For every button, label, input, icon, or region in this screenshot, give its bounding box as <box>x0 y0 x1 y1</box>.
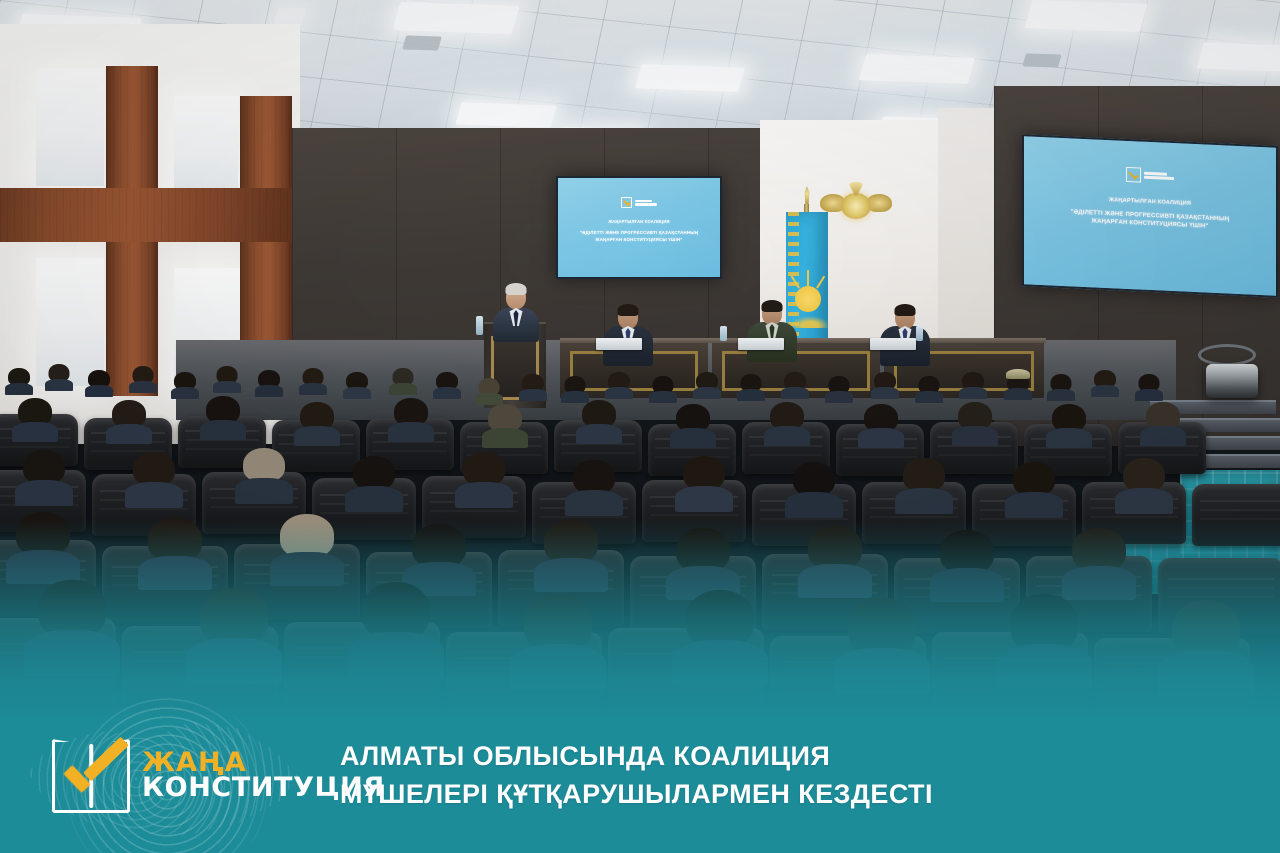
screen-subheading-1: "ӘДІЛЕТТІ ЖӘНЕ ПРОГРЕССИВТІ ҚАЗАҚСТАННЫҢ <box>580 230 698 235</box>
screen-logo <box>621 197 657 208</box>
drum-on-stage <box>1206 364 1258 398</box>
jana-konstitutsia-logo: ЖАҢА КОНСТИТУЦИЯ <box>52 739 385 813</box>
ceiling-light <box>859 54 975 84</box>
screen-heading: ЖАҢАРТЫЛҒАН КОАЛИЦИЯ <box>1109 197 1191 207</box>
window-upper-mid <box>174 96 238 196</box>
water-bottle <box>720 326 727 341</box>
ceiling-light <box>393 2 520 34</box>
checkmark-icon <box>60 747 126 803</box>
person-with-skullcap <box>1004 370 1032 396</box>
water-bottle <box>476 316 483 335</box>
wood-beam-horizontal <box>0 188 292 242</box>
screen-heading: ЖАҢАРТЫЛҒАН КОАЛИЦИЯ <box>608 219 669 224</box>
ceiling-light <box>635 64 745 92</box>
screen-subheading-2: ЖАҢАРҒАН КОНСТИТУЦИЯСЫ ҮШІН" <box>595 237 682 242</box>
nameplate <box>870 338 916 350</box>
ceiling-vent <box>402 35 442 50</box>
ceiling-light <box>1025 0 1148 32</box>
water-bottle <box>916 326 923 341</box>
projection-screen-right: ЖАҢАРТЫЛҒАН КОАЛИЦИЯ "ӘДІЛЕТТІ ЖӘНЕ ПРОГ… <box>1022 134 1278 298</box>
banner-caption: АЛМАТЫ ОБЛЫСЫНДА КОАЛИЦИЯ МҮШЕЛЕРІ ҚҰТҚА… <box>340 737 1240 814</box>
ceiling-light <box>455 102 556 127</box>
screen-logo <box>1126 167 1174 184</box>
window-upper-left <box>36 68 104 186</box>
speaker-at-podium <box>488 282 544 340</box>
screenshot-root: ЖАҢАРТЫЛҒАН КОАЛИЦИЯ "ӘДІЛЕТТІ ЖӘНЕ ПРОГ… <box>0 0 1280 853</box>
caption-banner: ЖАҢА КОНСТИТУЦИЯ АЛМАТЫ ОБЛЫСЫНДА КОАЛИЦ… <box>0 715 1280 853</box>
kazakhstan-emblem-icon <box>820 178 892 238</box>
nameplate <box>596 338 642 350</box>
ceiling-vent <box>1022 53 1061 67</box>
nameplate <box>738 338 784 350</box>
ceiling-light <box>1197 42 1280 71</box>
projection-screen-center: ЖАҢАРТЫЛҒАН КОАЛИЦИЯ "ӘДІЛЕТТІ ЖӘНЕ ПРОГ… <box>556 176 722 279</box>
open-book-icon <box>52 739 130 813</box>
drum-ring <box>1198 344 1256 366</box>
